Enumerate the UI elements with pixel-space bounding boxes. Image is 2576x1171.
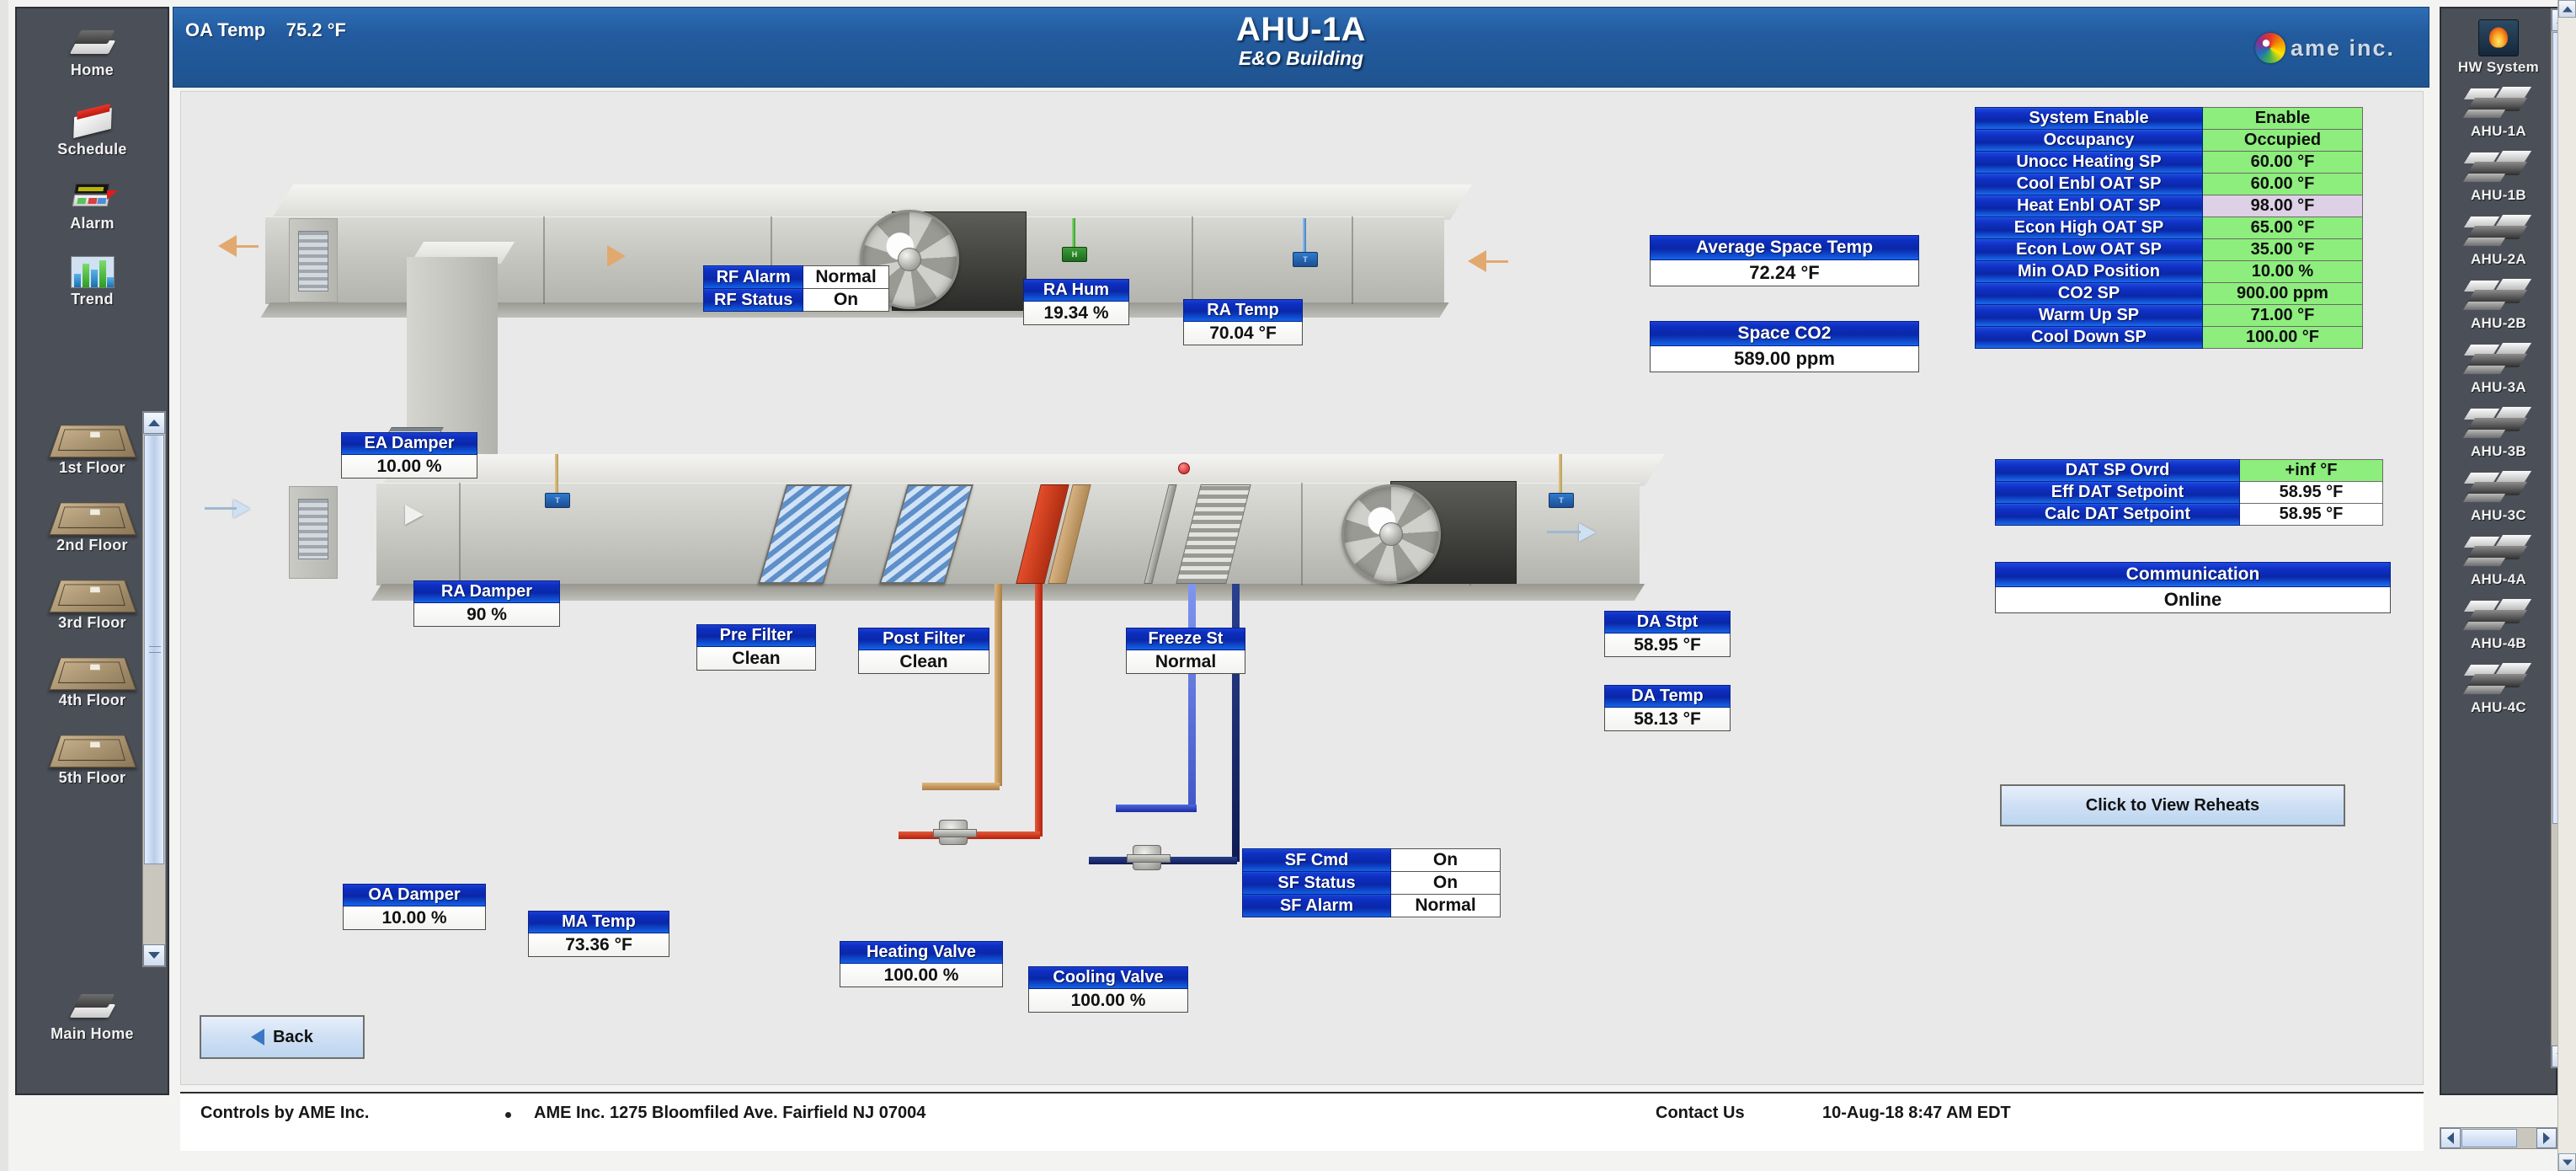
outside-louver-icon [298,499,328,559]
setpoint-label: Cool Down SP [1976,327,2203,349]
da-temp-sensor-icon: T [1549,493,1574,508]
page-header: OA Temp 75.2 °F AHU-1A E&O Building ame … [173,7,2429,88]
ea-damper-label: EA Damper [341,432,477,455]
scroll-up-arrow-icon[interactable] [143,412,165,434]
sidebar-item-label: AHU-2B [2471,315,2526,331]
pre-filter-label: Pre Filter [696,624,816,647]
sidebar-item-trend[interactable]: Trend [27,253,157,310]
trend-icon [71,256,115,288]
sidebar-item-ahu-1b[interactable]: AHU-1B [2441,145,2556,204]
sidebar-item-ahu-4a[interactable]: AHU-4A [2441,529,2556,588]
setpoint-value[interactable]: Enable [2203,108,2363,130]
sidebar-item-label: AHU-1A [2471,123,2526,139]
ma-temp-value: 73.36 °F [528,933,669,957]
ra-temp-label: RA Temp [1183,299,1303,322]
sidebar-item-label: 5th Floor [59,769,126,786]
table-row: Econ High OAT SP65.00 °F [1976,217,2363,239]
avg-space-temp-label: Average Space Temp [1650,235,1919,260]
pre-filter-value: Clean [696,647,816,671]
back-button[interactable]: Back [200,1015,365,1059]
heating-supply-pipe [1035,584,1043,837]
return-fan-status-table: RF Alarm Normal RF Status On [703,265,889,312]
page-subtitle-text: E&O Building [1236,47,1366,70]
left-navigation-panel: Home Schedule Alarm Trend [15,7,169,1095]
ahu-icon [2462,147,2535,186]
sidebar-item-2nd-floor[interactable]: 2nd Floor [27,495,157,556]
left-nav-bottom-group: Main Home [17,969,168,1093]
ra-humidity-badge: RA Hum 19.34 % [1023,279,1129,325]
setpoint-value[interactable]: 65.00 °F [2203,217,2363,239]
sidebar-item-label: 3rd Floor [58,614,126,631]
table-row: RF Alarm Normal [704,266,889,289]
sidebar-item-ahu-4c[interactable]: AHU-4C [2441,657,2556,716]
duct-seam [459,483,461,585]
heating-valve-badge: Heating Valve 100.00 % [840,941,1003,987]
setpoint-value[interactable]: 35.00 °F [2203,239,2363,261]
sidebar-item-label: AHU-1B [2471,187,2526,203]
space-co2-value: 589.00 ppm [1650,346,1919,372]
horizontal-scrollbar[interactable] [2440,1127,2557,1149]
floorplan-icon [49,425,136,458]
setpoint-label: Econ Low OAT SP [1976,239,2203,261]
flame-icon [2478,19,2519,56]
space-co2-panel: Space CO2 589.00 ppm [1650,321,1919,372]
sidebar-item-home[interactable]: Home [27,24,157,81]
floorplan-icon [49,580,136,613]
sidebar-item-label: Schedule [57,141,126,158]
ea-damper-badge: EA Damper 10.00 % [341,432,477,479]
scroll-down-arrow-icon[interactable] [143,944,165,966]
dat-setpoint-table: DAT SP Ovrd+inf °FEff DAT Setpoint58.95 … [1995,459,2383,526]
setpoint-label: Occupancy [1976,130,2203,152]
supply-duct-bottom-shadow [371,584,1645,601]
setpoint-value[interactable]: 900.00 ppm [2203,283,2363,305]
ma-temp-sensor-icon: T [545,493,570,508]
da-temp-value: 58.13 °F [1604,708,1731,731]
scrollbar-thumb[interactable] [2461,1129,2517,1147]
return-air-flow-arrow-icon [607,245,626,267]
setpoint-label: Heat Enbl OAT SP [1976,195,2203,217]
sidebar-item-label: AHU-4A [2471,571,2526,587]
rf-alarm-label: RF Alarm [704,266,803,289]
sidebar-item-ahu-1a[interactable]: AHU-1A [2441,81,2556,140]
table-row: SF Cmd On [1243,849,1501,872]
duct-seam [543,217,545,304]
ahu-icon [2462,660,2535,698]
ahu-icon [2462,211,2535,250]
ahu-icon [2462,468,2535,506]
exhaust-air-arrow-icon [218,235,237,257]
outside-air-stub [289,486,338,579]
supply-fan-status-table: SF Cmd On SF Status On SF Alarm Normal [1242,848,1501,917]
company-logo-text: ame inc. [2291,35,2395,61]
da-stpt-label: DA Stpt [1604,611,1731,634]
schedule-icon [68,104,117,138]
left-nav-scrollbar[interactable] [142,411,166,967]
freeze-stat-indicator-icon [1178,463,1190,474]
setpoint-label: Econ High OAT SP [1976,217,2203,239]
ahu-icon [2462,83,2535,122]
setpoint-value[interactable]: 10.00 % [2203,261,2363,283]
floorplan-icon [49,503,136,536]
ahu-icon [2462,275,2535,314]
table-row: DAT SP Ovrd+inf °F [1996,460,2383,482]
ahu-icon [2462,404,2535,442]
page-footer: Controls by AME Inc. AME Inc. 1275 Bloom… [180,1092,2424,1151]
rf-alarm-value: Normal [803,266,888,289]
setpoint-label: Unocc Heating SP [1976,152,2203,174]
table-row: Econ Low OAT SP35.00 °F [1976,239,2363,261]
duct-seam [1192,217,1193,304]
setpoint-value[interactable]: 60.00 °F [2203,152,2363,174]
sidebar-item-ahu-3b[interactable]: AHU-3B [2441,401,2556,460]
mixed-air-arrow-icon [405,505,424,525]
setpoint-value[interactable]: 71.00 °F [2203,305,2363,327]
scroll-right-arrow-icon[interactable] [2536,1128,2557,1148]
communication-value: Online [1995,587,2391,613]
table-row: RF Status On [704,289,889,312]
sidebar-item-label: Alarm [70,215,115,232]
heating-valve-label: Heating Valve [840,941,1003,964]
sf-cmd-value: On [1391,849,1501,872]
sf-alarm-value: Normal [1391,895,1501,917]
footer-left-text: Controls by AME Inc. [200,1104,369,1123]
setpoint-label: Cool Enbl OAT SP [1976,174,2203,195]
ra-damper-label: RA Damper [413,580,560,603]
setpoint-value[interactable]: 98.00 °F [2203,195,2363,217]
oa-temp-readout: OA Temp 75.2 °F [185,19,346,41]
post-filter-label: Post Filter [858,628,989,650]
setpoint-value[interactable]: 100.00 °F [2203,327,2363,349]
ma-temp-badge: MA Temp 73.36 °F [528,911,669,957]
da-temp-badge: DA Temp 58.13 °F [1604,685,1731,731]
sidebar-item-label: AHU-4B [2471,635,2526,651]
ahu-graphic-page: Home Schedule Alarm Trend [0,0,2576,1171]
heating-return-branch [922,783,1000,790]
duct-seam [1301,483,1303,585]
ame-logo-icon [2255,33,2285,63]
setpoint-value[interactable]: 60.00 °F [2203,174,2363,195]
cooling-valve-label: Cooling Valve [1028,966,1188,989]
sf-status-value: On [1391,872,1501,895]
table-row: SF Alarm Normal [1243,895,1501,917]
ahu-icon [2462,532,2535,570]
table-row: Eff DAT Setpoint58.95 °F [1996,482,2383,504]
oa-temp-label: OA Temp [185,19,265,40]
home-icon [70,991,115,1023]
communication-label: Communication [1995,562,2391,587]
post-filter-badge: Post Filter Clean [858,628,989,674]
sf-status-label: SF Status [1243,872,1391,895]
scroll-left-arrow-icon[interactable] [2440,1128,2461,1148]
dat-label: Eff DAT Setpoint [1996,482,2240,504]
floorplan-icon [49,658,136,691]
right-nav-list: HW SystemAHU-1AAHU-1BAHU-2AAHU-2BAHU-3AA… [2441,8,2556,1090]
table-row: Warm Up SP71.00 °F [1976,305,2363,327]
left-nav-top-group: Home Schedule Alarm Trend [17,8,168,406]
cooling-supply-pipe [1232,584,1240,862]
oa-damper-label: OA Damper [343,884,486,906]
sidebar-item-alarm[interactable]: Alarm [27,179,157,234]
footer-address-text: AME Inc. 1275 Bloomfiled Ave. Fairfield … [534,1104,925,1123]
back-button-label: Back [273,1028,313,1047]
duct-seam [1352,217,1353,304]
heating-valve-value: 100.00 % [840,964,1003,987]
ra-temp-value: 70.04 °F [1183,322,1303,345]
return-air-inlet-arrow-icon [1468,250,1486,272]
ra-humidity-sensor-icon: H [1062,247,1087,262]
ra-temp-badge: RA Temp 70.04 °F [1183,299,1303,345]
footer-bullet-icon [505,1112,511,1118]
sidebar-item-label: 4th Floor [59,692,126,708]
sidebar-item-label: 2nd Floor [56,537,128,553]
setpoint-label: Min OAD Position [1976,261,2203,283]
ra-damper-value: 90 % [413,603,560,627]
ahu-schematic-pane: H T T T [180,91,2424,1085]
discharge-air-arrow-shaft [1547,531,1581,533]
sidebar-item-label: AHU-2A [2471,251,2526,267]
return-air-arrow-shaft [1485,260,1508,263]
home-icon [70,27,115,59]
pre-filter-badge: Pre Filter Clean [696,624,816,671]
sidebar-item-label: HW System [2458,59,2539,75]
right-navigation-panel: HW SystemAHU-1AAHU-1BAHU-2AAHU-2BAHU-3AA… [2440,7,2557,1095]
sidebar-item-label: Trend [71,291,114,307]
sidebar-item-ahu-4b[interactable]: AHU-4B [2441,593,2556,652]
cooling-valve-icon [1133,845,1161,870]
ea-damper-value: 10.00 % [341,455,477,479]
table-row: Calc DAT Setpoint58.95 °F [1996,504,2383,526]
setpoint-label: System Enable [1976,108,2203,130]
sidebar-item-label: Home [71,61,114,78]
da-temp-label: DA Temp [1604,685,1731,708]
cooling-valve-badge: Cooling Valve 100.00 % [1028,966,1188,1013]
exhaust-air-arrow-shaft [235,245,259,248]
da-setpoint-badge: DA Stpt 58.95 °F [1604,611,1731,657]
space-co2-label: Space CO2 [1650,321,1919,346]
view-reheats-button[interactable]: Click to View Reheats [2000,784,2345,826]
sidebar-item-label: AHU-3C [2471,507,2526,523]
floorplan-icon [49,735,136,768]
system-setpoints-table: System EnableEnableOccupancyOccupiedUnoc… [1975,107,2363,349]
ra-hum-label: RA Hum [1023,279,1129,302]
page-title-text: AHU-1A [1236,11,1366,49]
sidebar-item-main-home[interactable]: Main Home [27,987,157,1045]
sidebar-item-ahu-2b[interactable]: AHU-2B [2441,273,2556,332]
sidebar-item-label: AHU-3A [2471,379,2526,395]
sidebar-item-ahu-3a[interactable]: AHU-3A [2441,337,2556,396]
freeze-st-label: Freeze St [1126,628,1245,650]
dat-label: Calc DAT Setpoint [1996,504,2240,526]
ra-hum-value: 19.34 % [1023,302,1129,325]
da-temp-sensor-stem [1559,454,1562,495]
discharge-air-arrow-icon [1579,523,1596,542]
scrollbar-thumb[interactable] [144,435,164,864]
page-title: AHU-1A E&O Building [1236,11,1366,70]
table-row: Cool Enbl OAT SP60.00 °F [1976,174,2363,195]
scroll-down-arrow-icon[interactable] [2558,1153,2576,1171]
rf-status-label: RF Status [704,289,803,312]
oa-temp-value: 75.2 °F [286,19,346,40]
supply-fan-wheel-icon [1341,484,1441,584]
sidebar-item-label: AHU-4C [2471,699,2526,715]
freeze-st-value: Normal [1126,650,1245,674]
contact-us-link[interactable]: Contact Us [1656,1104,1745,1123]
scroll-up-arrow-icon[interactable] [2558,0,2576,18]
setpoint-value[interactable]: Occupied [2203,130,2363,152]
heating-return-pipe [995,584,1002,786]
sidebar-item-label: 1st Floor [59,459,125,476]
ahu-icon [2462,340,2535,378]
sidebar-item-5th-floor[interactable]: 5th Floor [27,728,157,789]
sidebar-item-label: Main Home [51,1025,134,1042]
average-space-temp-panel: Average Space Temp 72.24 °F [1650,235,1919,286]
cooling-return-pipe [1188,584,1196,808]
cooling-return-branch [1116,805,1197,812]
return-duct-top-face [271,184,1472,220]
table-row: Heat Enbl OAT SP98.00 °F [1976,195,2363,217]
table-row: Cool Down SP100.00 °F [1976,327,2363,349]
view-reheats-button-label: Click to View Reheats [2086,796,2259,815]
ra-damper-badge: RA Damper 90 % [413,580,560,627]
ra-temp-sensor-icon: T [1293,252,1318,267]
cooling-valve-value: 100.00 % [1028,989,1188,1013]
dat-label: DAT SP Ovrd [1996,460,2240,482]
setpoint-label: Warm Up SP [1976,305,2203,327]
post-filter-value: Clean [858,650,989,674]
ra-humidity-sensor-stem [1072,218,1075,249]
exhaust-air-stub [289,218,338,302]
outside-air-arrow-shaft [205,507,237,510]
freeze-stat-badge: Freeze St Normal [1126,628,1245,674]
sidebar-item-label: AHU-3B [2471,443,2526,459]
exhaust-louver-icon [298,231,328,291]
sidebar-item-3rd-floor[interactable]: 3rd Floor [27,573,157,634]
back-arrow-icon [251,1029,264,1045]
rf-status-value: On [803,289,888,312]
footer-timestamp: 10-Aug-18 8:47 AM EDT [1822,1104,2011,1123]
sf-alarm-label: SF Alarm [1243,895,1391,917]
da-stpt-value: 58.95 °F [1604,634,1731,657]
oa-damper-badge: OA Damper 10.00 % [343,884,486,930]
dat-value[interactable]: +inf °F [2240,460,2383,482]
table-row: Min OAD Position10.00 % [1976,261,2363,283]
ra-temp-sensor-stem [1303,218,1306,254]
sidebar-item-1st-floor[interactable]: 1st Floor [27,418,157,479]
ma-temp-label: MA Temp [528,911,669,933]
ahu-icon [2462,596,2535,634]
sidebar-item-schedule[interactable]: Schedule [27,101,157,160]
dat-value[interactable]: 58.95 °F [2240,504,2383,526]
sidebar-item-ahu-3c[interactable]: AHU-3C [2441,465,2556,524]
sf-cmd-label: SF Cmd [1243,849,1391,872]
heating-valve-icon [939,820,968,845]
table-row: OccupancyOccupied [1976,130,2363,152]
table-row: Unocc Heating SP60.00 °F [1976,152,2363,174]
sidebar-item-hw-system[interactable]: HW System [2441,17,2556,76]
sidebar-item-ahu-2a[interactable]: AHU-2A [2441,209,2556,268]
table-row: SF Status On [1243,872,1501,895]
setpoint-label: CO2 SP [1976,283,2203,305]
window-scrollbar[interactable] [2557,0,2576,1171]
table-row: System EnableEnable [1976,108,2363,130]
avg-space-temp-value: 72.24 °F [1650,260,1919,286]
alarm-icon [68,182,117,212]
ma-temp-sensor-stem [555,454,558,495]
sidebar-item-4th-floor[interactable]: 4th Floor [27,650,157,711]
communication-panel: Communication Online [1995,562,2391,613]
table-row: CO2 SP900.00 ppm [1976,283,2363,305]
dat-value[interactable]: 58.95 °F [2240,482,2383,504]
oa-damper-value: 10.00 % [343,906,486,930]
company-logo: ame inc. [2255,31,2395,65]
